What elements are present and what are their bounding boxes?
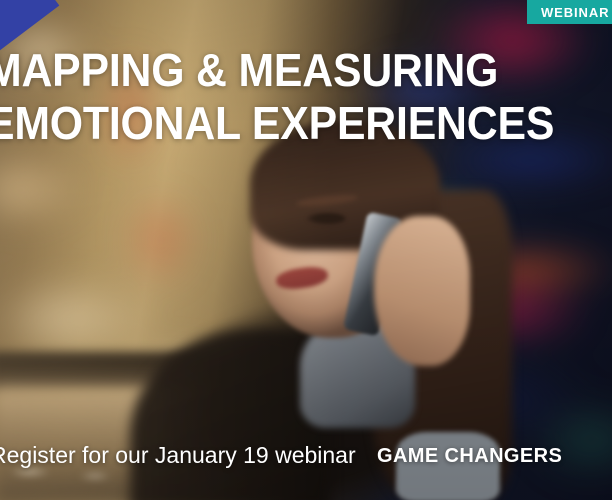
register-cta-text[interactable]: Register for our January 19 webinar <box>0 442 356 469</box>
webinar-badge: WEBINAR <box>527 0 612 24</box>
headline: MAPPING & MEASURING EMOTIONAL EXPERIENCE… <box>0 44 612 150</box>
webinar-promo-banner: WEBINAR MAPPING & MEASURING EMOTIONAL EX… <box>0 0 612 500</box>
headline-line-1: MAPPING & MEASURING <box>0 44 581 97</box>
footer-bar: Register for our January 19 webinar GAME… <box>0 428 612 500</box>
game-changers-tagline: GAME CHANGERS <box>377 445 562 468</box>
headline-line-2: EMOTIONAL EXPERIENCES <box>0 97 581 150</box>
webinar-badge-label: WEBINAR <box>541 5 609 20</box>
